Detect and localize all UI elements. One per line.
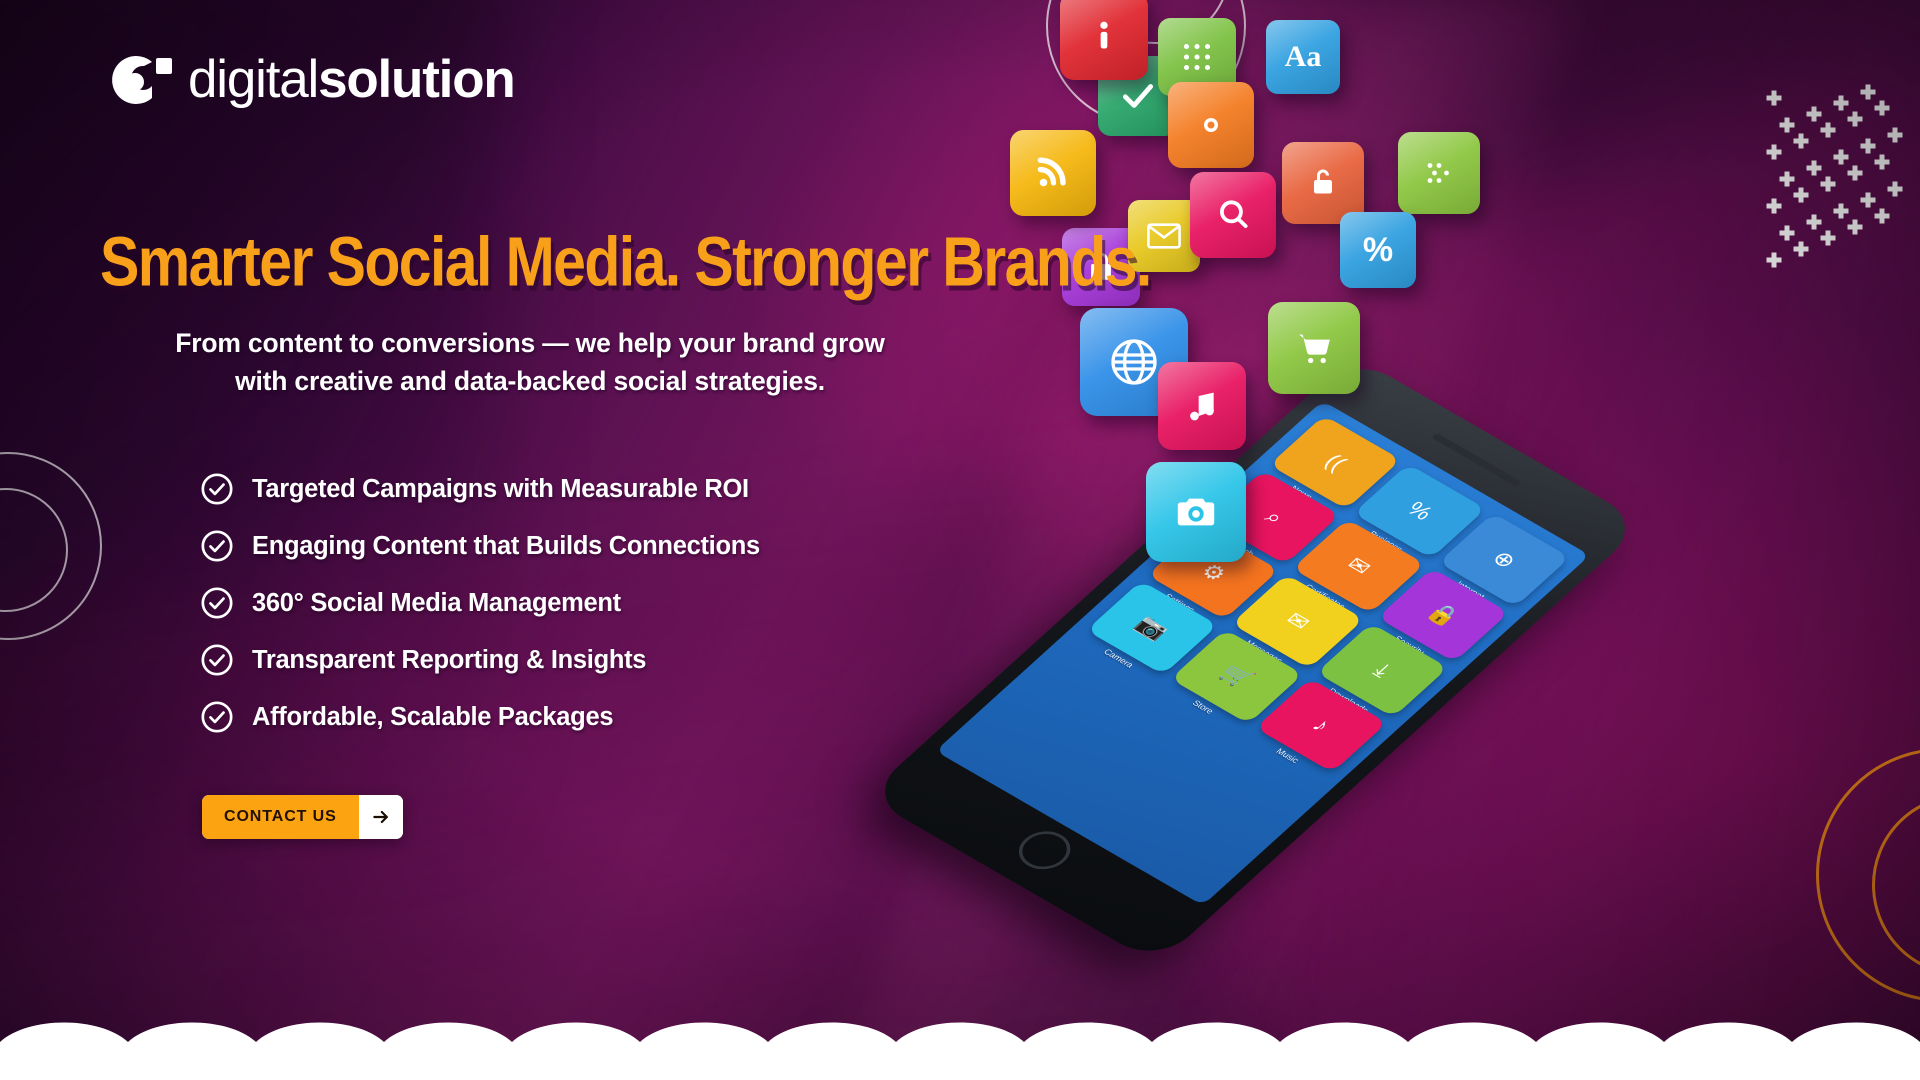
app-glyph-icon: ⌕ [1260, 507, 1288, 528]
smartphone-graphic: ((News%Business⊕Internet⌕Search✉Certific… [970, 330, 1610, 890]
app-glyph-icon: % [1403, 498, 1437, 523]
feature-label: Targeted Campaigns with Measurable ROI [252, 475, 749, 504]
feature-list: Targeted Campaigns with Measurable ROIEn… [200, 472, 760, 734]
feature-label: Engaging Content that Builds Connections [252, 532, 760, 561]
floating-tile-gear-icon [1168, 82, 1254, 168]
arrow-right-icon [359, 795, 403, 839]
app-glyph-icon: ⊕ [1487, 548, 1520, 573]
hero-subtitle: From content to conversions — we help yo… [100, 325, 960, 400]
check-circle-icon [200, 643, 234, 677]
brand-name: digitalsolution [188, 49, 515, 110]
brand-name-light: digital [188, 50, 318, 109]
floating-tile-camera-icon [1146, 462, 1246, 562]
app-label: Camera [1102, 647, 1136, 669]
illustration-smartphone-apps: ((News%Business⊕Internet⌕Search✉Certific… [1010, 0, 1920, 1010]
hero-banner: ((News%Business⊕Internet⌕Search✉Certific… [0, 0, 1920, 1080]
check-circle-icon [200, 586, 234, 620]
app-glyph-icon: ⤓ [1369, 660, 1394, 680]
app-glyph-icon: ⚙ [1196, 560, 1230, 585]
check-circle-icon [200, 700, 234, 734]
floating-tile-info-icon [1060, 0, 1148, 80]
floating-tile-music-icon [1158, 362, 1246, 450]
floating-tile-text-size-icon: Aa [1266, 20, 1340, 94]
contact-us-label: CONTACT US [202, 795, 359, 839]
app-glyph-icon: 🛒 [1216, 662, 1257, 691]
app-glyph-icon: ♪ [1308, 715, 1335, 736]
feature-label: 360° Social Media Management [252, 589, 621, 618]
feature-item: Engaging Content that Builds Connections [200, 529, 760, 563]
hero-subtitle-line-1: From content to conversions — we help yo… [175, 328, 884, 358]
scalloped-wave-edge [0, 1008, 1920, 1080]
hero-content: digitalsolution Smarter Social Media. St… [0, 0, 1060, 1010]
app-glyph-icon: 🔒 [1423, 600, 1464, 629]
floating-tile-arrows-icon [1398, 132, 1480, 214]
page-title: Smarter Social Media. Stronger Brands. [100, 222, 1151, 302]
check-circle-icon [200, 472, 234, 506]
app-glyph-icon: 📷 [1132, 613, 1173, 642]
contact-us-button[interactable]: CONTACT US [202, 795, 403, 839]
floating-tile-cart-icon [1268, 302, 1360, 394]
feature-item: Affordable, Scalable Packages [200, 700, 760, 734]
feature-item: Targeted Campaigns with Measurable ROI [200, 472, 760, 506]
brand-name-bold: solution [318, 50, 514, 109]
hero-subtitle-line-2: with creative and data-backed social str… [235, 366, 825, 396]
app-label: Music [1274, 746, 1301, 764]
feature-item: Transparent Reporting & Insights [200, 643, 760, 677]
feature-label: Affordable, Scalable Packages [252, 703, 613, 732]
app-glyph-icon: (( [1320, 451, 1350, 474]
check-circle-icon [200, 529, 234, 563]
app-label: Store [1190, 698, 1216, 715]
feature-label: Transparent Reporting & Insights [252, 646, 646, 675]
circle-dot-mark-icon [100, 42, 174, 116]
app-glyph-icon: ✉ [1342, 554, 1375, 579]
feature-item: 360° Social Media Management [200, 586, 760, 620]
floating-tile-percent-icon: % [1340, 212, 1416, 288]
app-glyph-icon: ✉ [1281, 609, 1314, 634]
brand-logo[interactable]: digitalsolution [100, 42, 515, 116]
floating-tile-search-icon [1190, 172, 1276, 258]
